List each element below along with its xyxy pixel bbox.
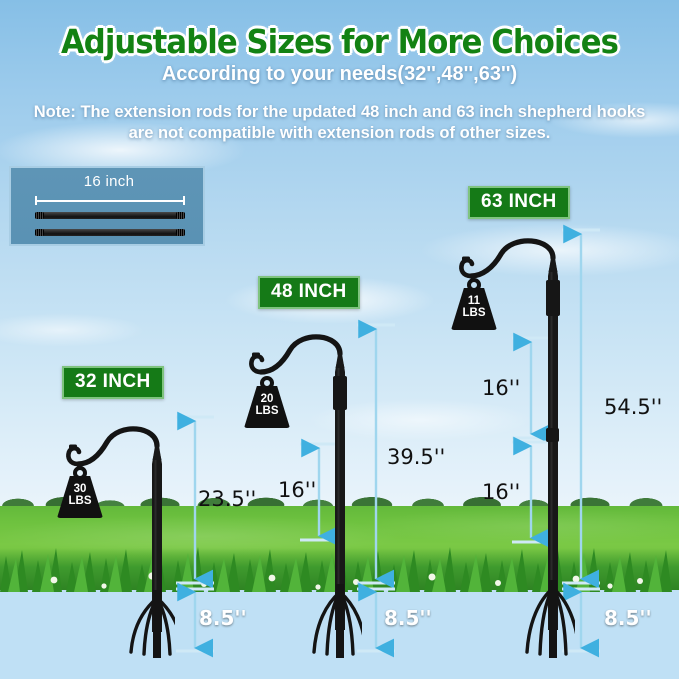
weight-value-63: 11 (468, 295, 480, 307)
page-title: Adjustable Sizes for More Choices (24, 22, 655, 61)
extension-rod-length-label: 16 inch (11, 173, 207, 190)
weight-unit-32: LBS (69, 495, 92, 507)
measure-48-segment-1: 16'' (278, 478, 316, 502)
measure-48-above: 39.5'' (387, 445, 445, 469)
extension-rod-panel: 16 inch (9, 166, 205, 246)
weight-value-48: 20 (261, 393, 274, 405)
measure-63-segment-1: 16'' (482, 376, 520, 400)
weight-unit-48: LBS (256, 405, 279, 417)
compatibility-note: Note: The extension rods for the updated… (30, 102, 649, 144)
extension-rod-dimension-bracket (35, 196, 185, 205)
extension-rod-item (35, 229, 185, 236)
weight-badge-63: 11 LBS (451, 278, 497, 330)
size-badge-48[interactable]: 48 INCH (258, 276, 360, 309)
size-badge-32[interactable]: 32 INCH (62, 366, 164, 399)
size-badge-63[interactable]: 63 INCH (468, 186, 570, 219)
measure-32-above: 23.5'' (198, 487, 256, 511)
measure-48-below: 8.5'' (384, 606, 432, 630)
page-subtitle: According to your needs(32'',48'',63'') (0, 63, 679, 86)
weight-unit-63: LBS (463, 307, 486, 319)
weight-badge-48: 20 LBS (244, 376, 290, 428)
measure-63-below: 8.5'' (604, 606, 652, 630)
measure-63-above: 54.5'' (604, 395, 662, 419)
measure-32-below: 8.5'' (199, 606, 247, 630)
weight-badge-32: 30 LBS (57, 466, 103, 518)
measure-63-segment-2: 16'' (482, 480, 520, 504)
extension-rod-item (35, 212, 185, 219)
infographic-canvas: Adjustable Sizes for More Choices Accord… (0, 0, 679, 679)
weight-value-32: 30 (74, 483, 87, 495)
shepherd-hook-32 (45, 420, 175, 660)
